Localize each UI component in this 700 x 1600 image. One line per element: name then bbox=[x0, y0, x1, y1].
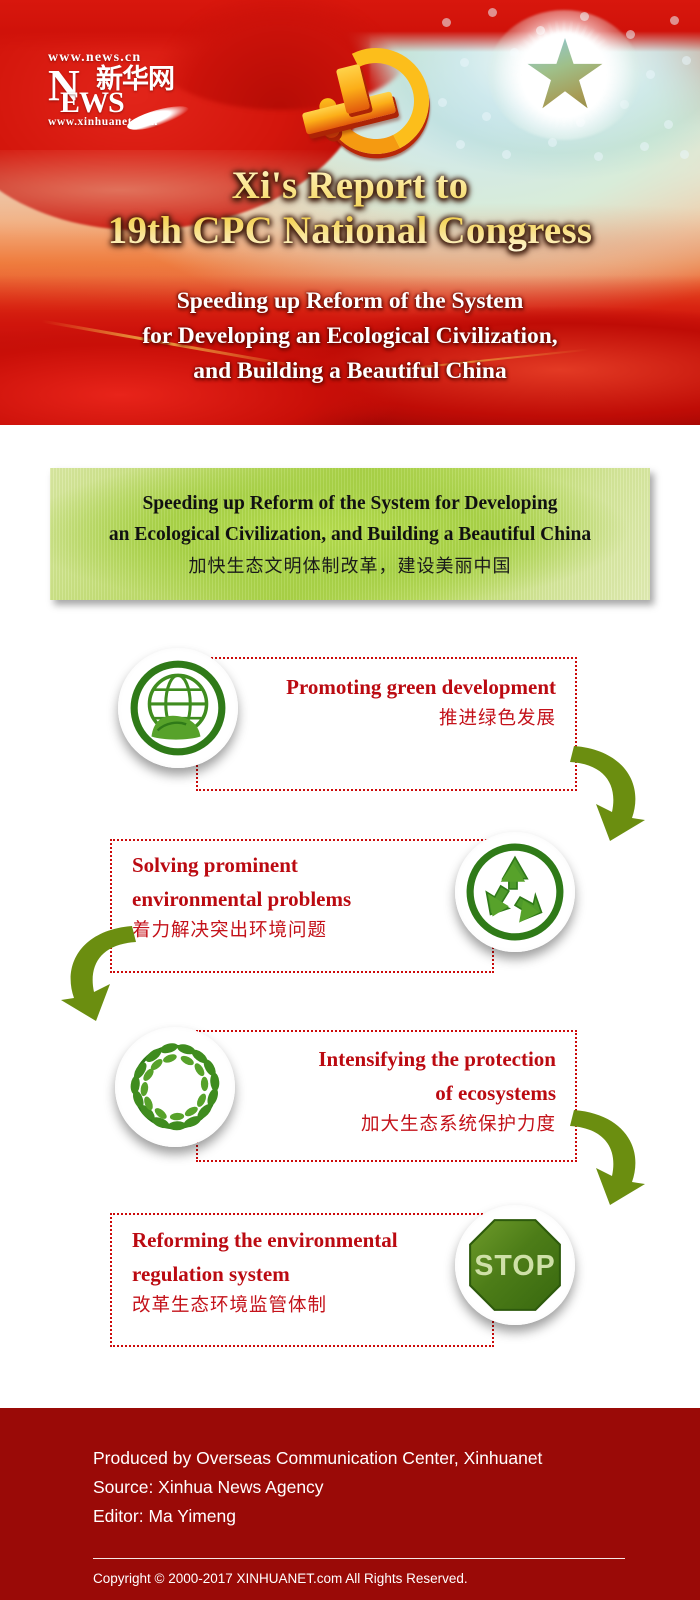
footer-credits: Produced by Overseas Communication Cente… bbox=[93, 1444, 613, 1531]
footer-produced-by: Produced by Overseas Communication Cente… bbox=[93, 1444, 613, 1473]
item-1-text: Promoting green development 推进绿色发展 bbox=[216, 670, 556, 734]
item-4-en-line-1: Reforming the environmental bbox=[132, 1223, 462, 1257]
decorative-dot bbox=[670, 16, 679, 25]
footer-divider bbox=[93, 1558, 625, 1559]
recycle-icon-inner bbox=[464, 841, 566, 943]
decorative-dot bbox=[460, 58, 469, 67]
recycle-icon bbox=[455, 832, 575, 952]
decorative-dot bbox=[664, 120, 673, 129]
banner-chinese-text: 加快生态文明体制改革，建设美丽中国 bbox=[50, 554, 650, 580]
banner-en-line-1: Speeding up Reform of the System for Dev… bbox=[50, 488, 650, 519]
stop-sign-inner: STOP bbox=[464, 1214, 566, 1316]
banner-en-line-2: an Ecological Civilization, and Building… bbox=[50, 519, 650, 550]
xinhuanet-logo[interactable]: www.news.cn N 新华网 EWS www.xinhuanet.com bbox=[48, 50, 180, 136]
item-2-text: Solving prominent environmental problems… bbox=[132, 848, 462, 946]
subtitle-line-3: and Building a Beautiful China bbox=[0, 354, 700, 389]
decorative-dot bbox=[438, 98, 447, 107]
stop-sign-svg: STOP bbox=[464, 1214, 566, 1316]
page-title: Xi's Report to 19th CPC National Congres… bbox=[0, 163, 700, 253]
item-3-en-line-1: Intensifying the protection bbox=[216, 1042, 556, 1076]
item-3-text: Intensifying the protection of ecosystem… bbox=[216, 1042, 556, 1140]
decorative-dot bbox=[682, 56, 691, 65]
five-pointed-star-icon bbox=[470, 8, 660, 148]
subtitle-line-2: for Developing an Ecological Civilizatio… bbox=[0, 319, 700, 354]
laurel-wreath-svg bbox=[124, 1036, 226, 1138]
page-subtitle: Speeding up Reform of the System for Dev… bbox=[0, 284, 700, 389]
item-3-en-line-2: of ecosystems bbox=[216, 1076, 556, 1110]
item-2-en-line-1: Solving prominent bbox=[132, 848, 462, 882]
stop-sign-icon: STOP bbox=[455, 1205, 575, 1325]
item-1-en-line-1: Promoting green development bbox=[216, 670, 556, 704]
globe-in-hand-svg bbox=[127, 657, 229, 759]
footer: Produced by Overseas Communication Cente… bbox=[0, 1408, 700, 1600]
item-4-en-line-2: regulation system bbox=[132, 1257, 462, 1291]
item-4-text: Reforming the environmental regulation s… bbox=[132, 1223, 462, 1321]
footer-copyright: Copyright © 2000-2017 XINHUANET.com All … bbox=[93, 1568, 468, 1590]
title-line-1: Xi's Report to bbox=[0, 163, 700, 208]
header-banner: www.news.cn N 新华网 EWS www.xinhuanet.com … bbox=[0, 0, 700, 425]
decorative-dot bbox=[442, 18, 451, 27]
cpc-hammer-sickle-icon bbox=[285, 42, 415, 157]
item-2-cn: 着力解决突出环境问题 bbox=[132, 916, 462, 946]
title-line-2: 19th CPC National Congress bbox=[0, 208, 700, 253]
logo-wordmark: N 新华网 EWS bbox=[48, 66, 180, 114]
subtitle-line-1: Speeding up Reform of the System bbox=[0, 284, 700, 319]
footer-editor: Editor: Ma Yimeng bbox=[93, 1502, 613, 1531]
list-item-4[interactable]: STOP Reforming the environmental regulat… bbox=[0, 1180, 700, 1370]
wreath-icon-inner bbox=[124, 1036, 226, 1138]
stop-sign-label: STOP bbox=[474, 1250, 555, 1282]
globe-icon-inner bbox=[127, 657, 229, 759]
item-1-cn: 推进绿色发展 bbox=[216, 704, 556, 734]
decorative-dot bbox=[456, 140, 465, 149]
item-4-cn: 改革生态环境监管体制 bbox=[132, 1291, 462, 1321]
recycle-symbol-svg bbox=[464, 841, 566, 943]
footer-source: Source: Xinhua News Agency bbox=[93, 1473, 613, 1502]
section-heading-banner: Speeding up Reform of the System for Dev… bbox=[50, 468, 650, 600]
banner-english-text: Speeding up Reform of the System for Dev… bbox=[50, 468, 650, 550]
logo-letters-ews: EWS bbox=[60, 88, 124, 118]
infographic-page: www.news.cn N 新华网 EWS www.xinhuanet.com … bbox=[0, 0, 700, 1600]
item-3-cn: 加大生态系统保护力度 bbox=[216, 1110, 556, 1140]
item-2-en-line-2: environmental problems bbox=[132, 882, 462, 916]
